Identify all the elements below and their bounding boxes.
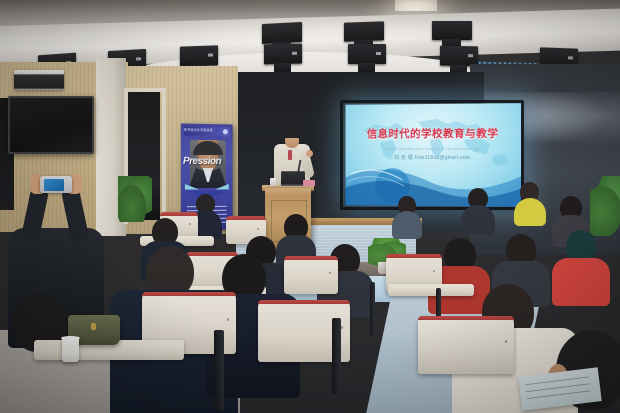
lecture-seat[interactable] [418,316,514,374]
podium-pink-item [303,180,315,186]
presenter-badge [288,150,292,160]
banner-header-text: 教育信息化专题讲座 [184,127,213,131]
projection-screen-bezel [340,100,524,210]
seat-frame-arm [214,330,224,410]
presenter-laptop[interactable] [281,171,305,186]
smartphone-screen [44,179,64,191]
presenter-hand [306,150,313,157]
paper-cup[interactable] [62,338,79,362]
ceiling-speaker-icon [180,45,218,66]
handbag-clasp-icon [91,323,96,330]
lecture-seat[interactable] [284,256,338,294]
presenter-hair [284,131,300,138]
audience-torso [552,258,610,306]
wall-speaker-icon [14,70,64,90]
ceiling-speaker-icon [344,21,384,41]
notebook-lines [526,377,592,404]
side-plant-left [118,176,152,222]
lecture-hall-photo: 信息时代的学校教育与教学 School Education and Teachi… [0,0,620,413]
ceiling-speaker-icon [262,22,302,44]
seat-frame-post [370,282,375,336]
audience-torso [514,198,546,226]
writing-desk [388,284,474,296]
podium-cup [270,178,276,186]
banner-logo-icon [223,129,228,134]
side-plant-right [590,176,620,236]
banner-headline: Pression [183,156,221,167]
smartphone-icon[interactable] [40,176,72,193]
wall-mounted-display[interactable] [8,96,94,154]
ceiling-speaker-icon [264,44,302,65]
seat-frame-arm [332,318,341,394]
audience-torso [392,211,422,239]
ceiling-speaker-icon [432,21,472,40]
audience-torso [461,205,495,235]
ceiling-speaker-icon [348,44,386,64]
ceiling-light-icon [395,0,437,11]
paper-cup-lid [61,336,80,340]
